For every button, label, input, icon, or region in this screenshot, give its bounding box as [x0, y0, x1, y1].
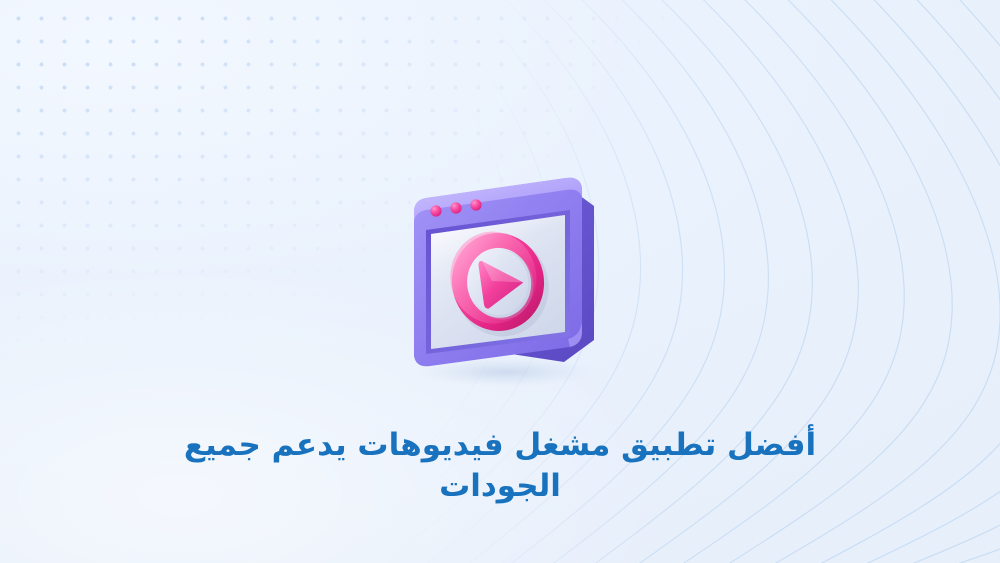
- banner-canvas: أفضل تطبيق مشغل فيديوهات يدعم جميع الجود…: [0, 0, 1000, 563]
- title-bar-dot-2: [450, 202, 461, 213]
- page-title: أفضل تطبيق مشغل فيديوهات يدعم جميع الجود…: [0, 425, 1000, 508]
- title-bar-dot-1: [430, 205, 441, 216]
- video-player-illustration: [388, 176, 612, 386]
- headline-text: أفضل تطبيق مشغل فيديوهات يدعم جميع الجود…: [130, 425, 870, 508]
- title-bar-dot-3: [470, 199, 481, 210]
